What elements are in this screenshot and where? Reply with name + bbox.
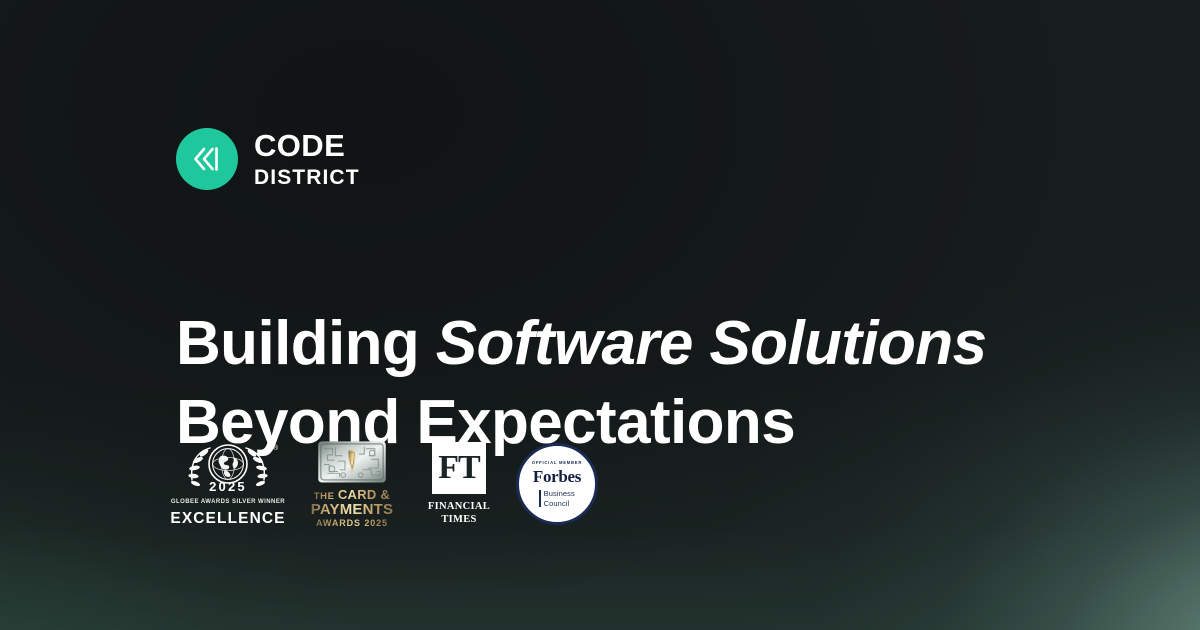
headline-italic-part: Software Solutions (436, 309, 987, 378)
forbes-council-line2: Council (544, 499, 575, 508)
globee-title: EXCELLENCE (170, 510, 285, 528)
card-trophy-icon (312, 440, 392, 484)
brand-wordmark: CODE DISTRICT (254, 130, 360, 188)
award-badge-row: ® 2025 GLOBEE AWARDS SILVER WINNER EXCEL… (176, 440, 598, 528)
ft-name-line1: FINANCIAL (428, 500, 490, 513)
ft-monogram-text: FT (438, 451, 479, 485)
forbes-council-text: Business Council (544, 489, 575, 508)
ft-name-line2: TIMES (428, 513, 490, 526)
ft-name: FINANCIAL TIMES (428, 500, 490, 526)
cpa-line1-main: CARD & (338, 487, 390, 502)
headline-regular-part: Building (176, 309, 436, 378)
forbes-divider (539, 490, 541, 507)
cpa-wordmark: THE CARD & PAYMENTS AWARDS 2025 (311, 488, 393, 528)
headline-line-1: Building Software Solutions (176, 304, 1036, 383)
badge-financial-times: FT FINANCIAL TIMES (424, 442, 494, 526)
brand-logo[interactable]: CODE DISTRICT (176, 128, 360, 190)
brand-name-line1: CODE (254, 130, 360, 161)
globee-subtitle: GLOBEE AWARDS SILVER WINNER (171, 499, 285, 505)
badge-forbes-business-council: OFFICIAL MEMBER Forbes Business Council (516, 443, 598, 525)
promo-banner: CODE DISTRICT Building Software Solution… (0, 0, 1200, 630)
brand-name-line2: DISTRICT (254, 167, 360, 188)
forbes-official-member: OFFICIAL MEMBER (532, 460, 582, 465)
badge-card-and-payments-awards: THE CARD & PAYMENTS AWARDS 2025 (302, 440, 402, 528)
cpa-line2: PAYMENTS (311, 502, 393, 517)
cpa-line1: THE CARD & (311, 488, 393, 502)
headline: Building Software Solutions Beyond Expec… (176, 304, 1036, 463)
ft-monogram-icon: FT (432, 442, 486, 494)
globee-year: 2025 (176, 479, 280, 494)
svg-text:®: ® (273, 444, 279, 452)
forbes-council-block: Business Council (539, 489, 575, 508)
forbes-council-line1: Business (544, 489, 575, 498)
cpa-line3: AWARDS 2025 (311, 519, 393, 528)
banner-content: CODE DISTRICT Building Software Solution… (176, 0, 1076, 630)
forbes-wordmark: Forbes (533, 468, 581, 485)
globe-laurel-icon: ® 2025 (176, 440, 280, 498)
codedistrict-chevron-logo-icon (176, 128, 238, 190)
badge-globee-awards: ® 2025 GLOBEE AWARDS SILVER WINNER EXCEL… (176, 440, 280, 528)
